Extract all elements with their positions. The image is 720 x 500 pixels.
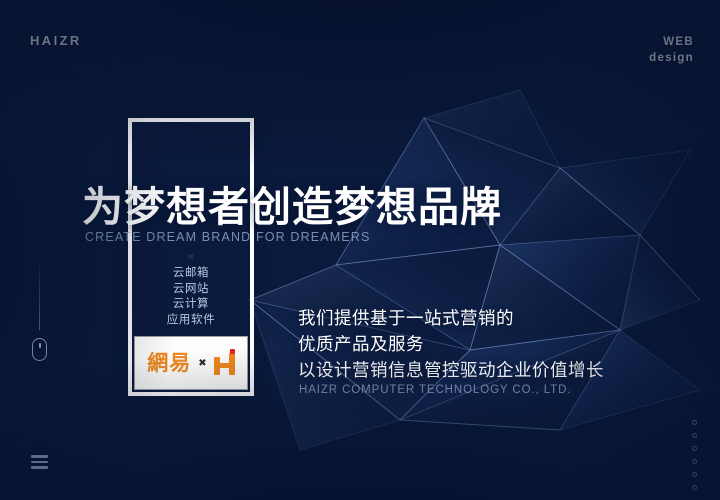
web-label: WEB <box>649 34 694 50</box>
pagination-dot[interactable] <box>692 459 697 464</box>
multiply-icon: ✖ <box>198 358 206 369</box>
decorative-frame-bottom <box>128 392 254 396</box>
service-menu: 云邮箱 云网站 云计算 应用软件 <box>128 266 254 328</box>
hero-description: 我们提供基于一站式营销的 优质产品及服务 以设计营销信息管控驱动企业价值增长 <box>298 305 604 383</box>
scroll-rail-line <box>39 262 40 330</box>
page-subtitle: CREATE DREAM BRAND FOR DREAMERS <box>85 230 370 244</box>
pagination-dot[interactable] <box>692 485 697 490</box>
pagination-dot[interactable] <box>692 446 697 451</box>
cross-mark-icon: ✖ <box>187 252 195 263</box>
design-label: design <box>649 50 694 66</box>
web-design-label: WEB design <box>649 34 694 66</box>
hamburger-bar <box>31 466 48 469</box>
menu-item-cloud-computing[interactable]: 云计算 <box>128 297 254 313</box>
company-name: HAIZR COMPUTER TECHNOLOGY CO., LTD. <box>299 384 571 396</box>
haizr-h-logo-icon <box>214 351 235 375</box>
pagination-dot[interactable] <box>692 472 697 477</box>
pagination-dot[interactable] <box>692 433 697 438</box>
low-poly-background <box>0 0 720 500</box>
description-line-1: 我们提供基于一站式营销的 <box>298 305 604 331</box>
hamburger-bar <box>31 461 48 464</box>
brand-logo[interactable]: HAIZR <box>30 33 82 48</box>
hamburger-bar <box>31 455 48 458</box>
hamburger-menu-icon[interactable] <box>31 455 48 469</box>
description-line-3: 以设计营销信息管控驱动企业价值增长 <box>298 357 604 383</box>
slide-pagination <box>692 420 697 490</box>
menu-item-app-software[interactable]: 应用软件 <box>128 313 254 329</box>
netease-logo-text: 網易 <box>147 353 191 374</box>
hero-slide: HAIZR WEB design 为梦想者创造梦想品牌 CREATE DREAM… <box>0 0 720 500</box>
pagination-dot[interactable] <box>692 420 697 425</box>
menu-item-cloud-mail[interactable]: 云邮箱 <box>128 266 254 282</box>
mouse-scroll-icon[interactable] <box>32 338 47 361</box>
description-line-2: 优质产品及服务 <box>298 331 604 357</box>
menu-item-cloud-site[interactable]: 云网站 <box>128 282 254 298</box>
page-title: 为梦想者创造梦想品牌 <box>82 183 502 231</box>
partner-logo-card[interactable]: 網易 ✖ <box>134 336 248 390</box>
